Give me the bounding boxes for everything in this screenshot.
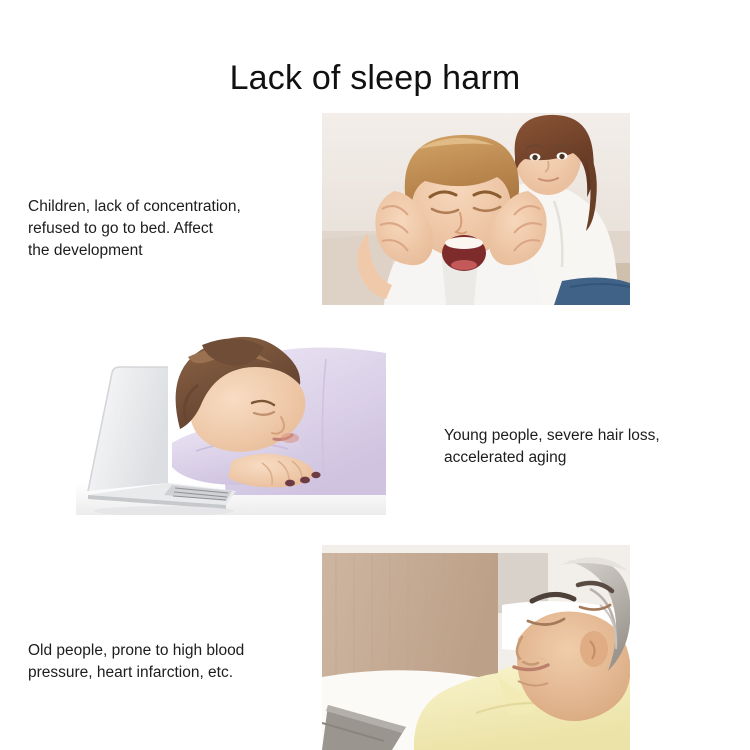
photo-screaming-child-with-mother [322,113,630,305]
caption-old: Old people, prone to high blood pressure… [28,640,308,684]
caption-children: Children, lack of concentration, refused… [28,196,298,262]
page-title: Lack of sleep harm [0,59,750,98]
photo-woman-asleep-at-laptop [76,333,386,515]
headboard [322,553,498,681]
nail [285,480,295,487]
photo-elderly-man-sleeping [322,545,630,750]
photo-children-illustration [322,113,630,305]
jeans [554,277,630,305]
caption-young: Young people, severe hair loss, accelera… [444,425,724,469]
nail [311,472,320,478]
photo-young-illustration [76,333,386,515]
nail [300,477,310,484]
photo-old-illustration [322,545,630,750]
